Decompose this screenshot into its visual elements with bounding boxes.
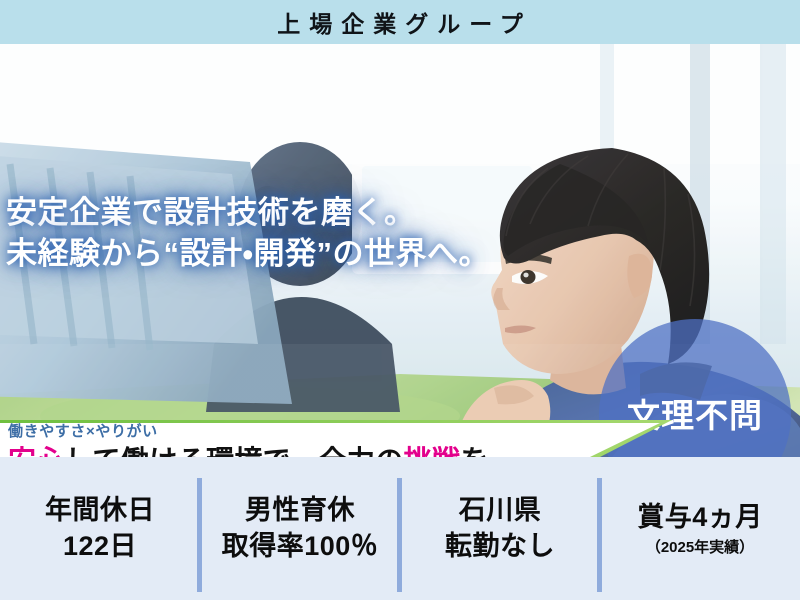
feature-line-1: 年間休日: [45, 493, 155, 529]
ribbon-main-text: 安心して働ける環境で、全力の挑戦を。: [8, 443, 608, 457]
ribbon-plain-2: を。: [460, 445, 517, 457]
feature-item-location: 石川県 転勤なし: [400, 457, 600, 600]
ribbon-accent-1: 安心: [8, 445, 65, 457]
feature-line-1: 男性育休: [245, 493, 355, 529]
ribbon-banner: 働きやすさ×やりがい 安心して働ける環境で、全力の挑戦を。: [0, 420, 672, 457]
hero-headline: 安定企業で設計技術を磨く。 未経験から“設計・開発”の世界へ。: [6, 192, 566, 274]
ribbon-kicker: 働きやすさ×やりがい: [8, 422, 608, 442]
feature-line-2: 122日: [63, 529, 137, 565]
feature-item-bonus: 賞与4ヵ月 （2025年実績）: [600, 457, 800, 600]
header-title: 上場企業グループ: [268, 5, 532, 39]
feature-line-2: 転勤なし: [445, 529, 555, 565]
header-band: 上場企業グループ: [0, 0, 800, 44]
ribbon-content: 働きやすさ×やりがい 安心して働ける環境で、全力の挑戦を。: [8, 422, 608, 457]
hero-photo: 安定企業で設計技術を磨く。 未経験から“設計・開発”の世界へ。 文理不問 働きや…: [0, 44, 800, 457]
ribbon-plain-1: して働ける環境で、全力の: [65, 445, 404, 457]
headline-line-2: 未経験から“設計・開発”の世界へ。: [6, 233, 566, 274]
feature-item-holidays: 年間休日 122日: [0, 457, 200, 600]
ribbon-accent-2: 挑戦: [404, 445, 461, 457]
feature-line-1: 石川県: [459, 493, 542, 529]
headline-line-1: 安定企業で設計技術を磨く。: [6, 192, 566, 233]
feature-strip: 年間休日 122日 男性育休 取得率100％ 石川県 転勤なし 賞与4ヵ月 （2…: [0, 457, 800, 600]
feature-note: （2025年実績）: [646, 538, 754, 558]
feature-item-paternity-leave: 男性育休 取得率100％: [200, 457, 400, 600]
job-ad-poster: 上場企業グループ: [0, 0, 800, 600]
feature-line-2: 取得率100％: [222, 529, 379, 565]
feature-line-1: 賞与4ヵ月: [637, 500, 763, 536]
